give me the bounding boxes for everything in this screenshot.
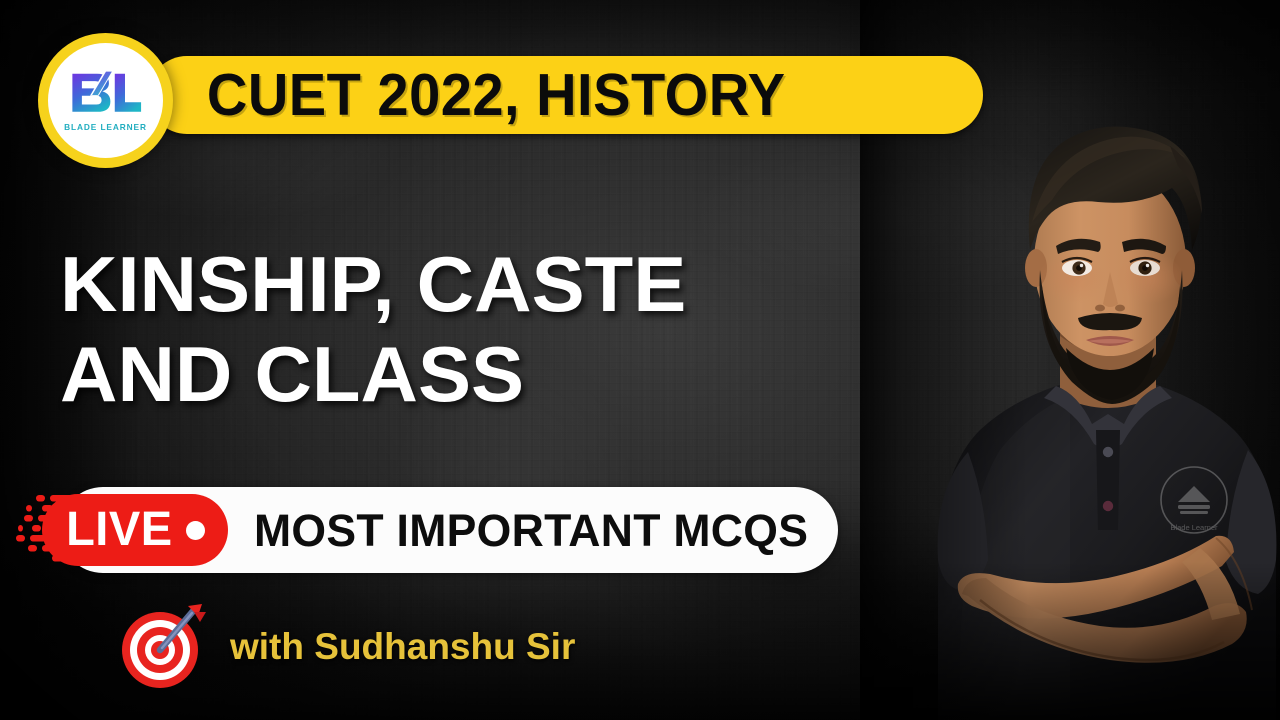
headline-text: MOST IMPORTANT MCQS bbox=[254, 487, 808, 573]
live-label: LIVE bbox=[66, 506, 173, 554]
live-badge: LIVE bbox=[42, 494, 228, 566]
page-title-line-2: AND CLASS bbox=[60, 337, 866, 411]
header-title: CUET 2022, HISTORY bbox=[148, 66, 785, 125]
thumbnail-canvas: Blade Learner bbox=[0, 0, 1280, 720]
brand-wordmark: BLADE LEARNER bbox=[64, 123, 147, 131]
blade-learner-logo-icon bbox=[68, 69, 144, 121]
brand-logo-badge[interactable]: BLADE LEARNER bbox=[38, 33, 173, 168]
live-dot-icon bbox=[186, 521, 205, 540]
page-title: KINSHIP, CASTE AND CLASS bbox=[60, 247, 850, 411]
svg-text:Blade Learner: Blade Learner bbox=[1170, 523, 1218, 532]
header-banner: CUET 2022, HISTORY bbox=[148, 56, 983, 134]
presenter-credit: with Sudhanshu Sir bbox=[230, 628, 575, 665]
target-dartboard-icon bbox=[118, 602, 206, 690]
brand-logo-inner: BLADE LEARNER bbox=[48, 43, 163, 158]
page-title-line-1: KINSHIP, CASTE bbox=[60, 247, 866, 321]
presenter-credit-row: with Sudhanshu Sir bbox=[118, 600, 575, 692]
